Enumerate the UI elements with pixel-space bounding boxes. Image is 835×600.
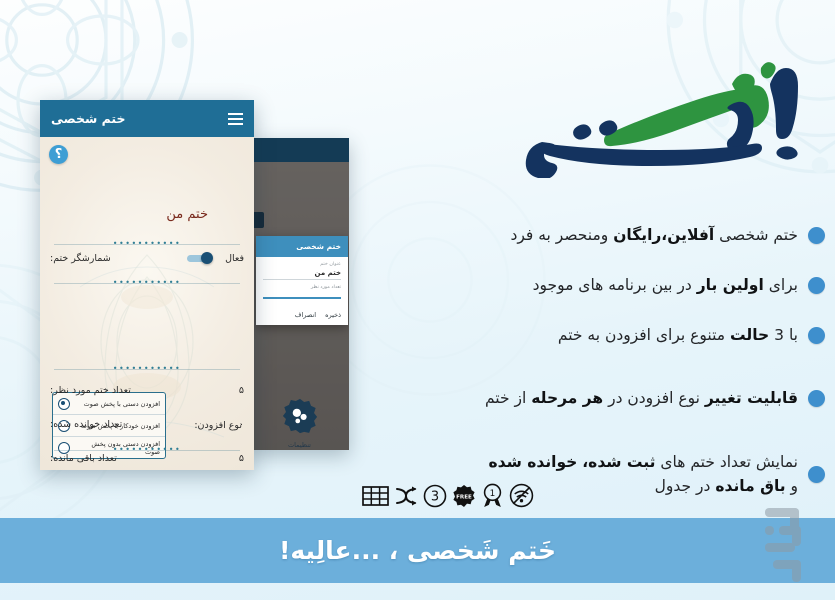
radio-option-label: افزودن دستی با پخش صوت: [76, 400, 160, 408]
app-bar: ختم شخصی: [40, 100, 254, 137]
divider-below-radios: •••••••••••: [54, 364, 240, 373]
bullet-dot-icon: [808, 227, 825, 244]
dialog-field-count-caption: تعداد مورد نظر: [263, 285, 341, 297]
stat-row-target: تعداد ختم مورد نظر: ۵: [50, 385, 244, 396]
stat-row-remaining: تعداد باقی مانده: ۵: [50, 453, 244, 464]
dialog-cancel-button[interactable]: انصراف: [295, 311, 316, 319]
stat-label: تعداد خوانده شده:: [50, 419, 122, 430]
dialog-body: عنوان ختم ختم من تعداد مورد نظر: [256, 257, 348, 308]
secondary-appbar: [250, 138, 349, 162]
feature-item-1: برای اولین بار در بین برنامه های موجود: [485, 262, 825, 308]
feature-text-0: ختم شخصی آفلاین،رایگان ومنحصر به فرد: [485, 223, 798, 247]
feature-list: ختم شخصی آفلاین،رایگان ومنحصر به فرد برا…: [485, 212, 825, 514]
counter-switch-label: فعال: [225, 253, 244, 264]
table-grid-icon: [362, 484, 389, 508]
dialog-title: ختم شخصی: [296, 242, 341, 251]
settings-label: تنظیمات: [288, 441, 311, 449]
new-khatm-dialog: ختم شخصی عنوان ختم ختم من تعداد مورد نظر…: [256, 236, 348, 325]
shuffle-arrows-icon: [394, 484, 418, 508]
hamburger-icon[interactable]: [228, 113, 243, 125]
page-root: ختم شخصی آفلاین،رایگان ومنحصر به فرد برا…: [0, 0, 835, 600]
stat-label: تعداد ختم مورد نظر:: [50, 385, 131, 396]
bottom-banner: خَتم شَخصی ، ...عالِیه!: [0, 518, 835, 583]
stat-value: ۵: [239, 385, 244, 396]
bullet-dot-icon: [808, 327, 825, 344]
dialog-field-title-value[interactable]: ختم من: [263, 267, 341, 279]
divider-dots: •••••••••••: [113, 364, 181, 373]
radio-option-0[interactable]: افزودن دستی با پخش صوت: [53, 393, 165, 414]
feature-item-2: با 3 حالت متنوع برای افزودن به ختم: [485, 312, 825, 358]
divider-dots: •••••••••••: [113, 239, 181, 248]
circled-three-icon: 3: [423, 484, 447, 508]
offline-wifi-off-icon: [509, 483, 534, 508]
stat-value: ۰: [239, 419, 244, 430]
app-bar-title: ختم شخصی: [51, 111, 126, 126]
settings-shortcut[interactable]: تنظیمات: [282, 398, 318, 449]
award-ribbon-one-icon: 1: [481, 483, 504, 508]
svg-text:FREE: FREE: [456, 494, 472, 500]
dialog-field-count-underline: [263, 297, 341, 299]
stat-row-read: تعداد خوانده شده: ۰: [50, 419, 244, 430]
bullet-dot-icon: [808, 390, 825, 407]
secondary-screen: ختم شخصی عنوان ختم ختم من تعداد مورد نظر…: [250, 162, 349, 450]
app-logo: [478, 48, 818, 188]
toggle-knob: [201, 252, 213, 264]
bullet-dot-icon: [808, 466, 825, 483]
divider-middle: •••••••••••: [54, 278, 240, 287]
khatm-screen: ؟ ختم من ••••••••••• شمارشگر ختم: فعال •…: [40, 137, 254, 470]
divider-dots: •••••••••••: [113, 278, 181, 287]
help-icon[interactable]: ؟: [49, 145, 68, 164]
stat-value: ۵: [239, 453, 244, 464]
divider-dots: •••••••••••: [113, 445, 181, 454]
gear-flower-icon: [282, 398, 318, 438]
dialog-header: ختم شخصی: [256, 236, 348, 257]
svg-text:3: 3: [431, 489, 439, 504]
counter-row: شمارشگر ختم: فعال: [50, 253, 244, 264]
phone-mockup-secondary: ختم شخصی عنوان ختم ختم من تعداد مورد نظر…: [250, 138, 349, 450]
feature-text-2: با 3 حالت متنوع برای افزودن به ختم: [485, 323, 798, 347]
svg-text:1: 1: [490, 489, 496, 499]
feature-item-0: ختم شخصی آفلاین،رایگان ومنحصر به فرد: [485, 212, 825, 258]
counter-label: شمارشگر ختم:: [50, 253, 111, 264]
brand-watermark-icon: [759, 498, 811, 590]
phone-mockup-primary: ختم شخصی: [40, 100, 254, 470]
screen-title: ختم من: [166, 207, 208, 222]
feature-text-1: برای اولین بار در بین برنامه های موجود: [485, 273, 798, 297]
banner-text: خَتم شَخصی ، ...عالِیه!: [279, 536, 556, 565]
stat-label: تعداد باقی مانده:: [50, 453, 117, 464]
divider-top: •••••••••••: [54, 239, 240, 248]
feature-icon-strip: 1 FREE 3: [362, 483, 534, 508]
dialog-actions: ذخیره انصراف: [256, 308, 348, 325]
radio-button-icon: [58, 398, 70, 410]
feature-item-3: قابلیت تغییر نوع افزودن در هر مرحله از خ…: [485, 362, 825, 434]
feature-text-3: قابلیت تغییر نوع افزودن در هر مرحله از خ…: [485, 386, 798, 410]
free-badge-icon: FREE: [452, 484, 476, 508]
counter-switch-group[interactable]: فعال: [187, 253, 244, 264]
dialog-save-button[interactable]: ذخیره: [325, 311, 341, 319]
divider-bottom: •••••••••••: [54, 445, 240, 454]
dialog-field-underline: [263, 279, 341, 280]
bullet-dot-icon: [808, 277, 825, 294]
counter-toggle-switch[interactable]: [187, 254, 213, 263]
